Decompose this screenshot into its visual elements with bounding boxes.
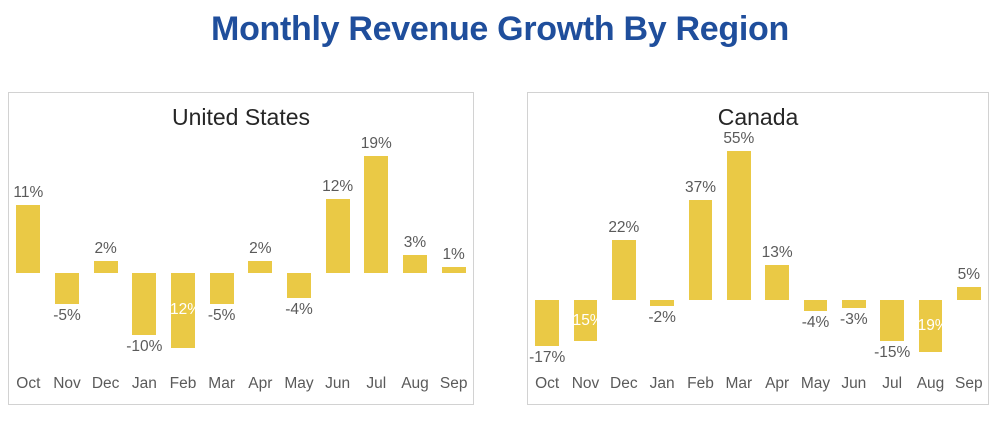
x-tick-us-mar: Mar xyxy=(202,374,241,394)
page-title: Monthly Revenue Growth By Region xyxy=(0,8,1000,50)
chart-title-canada: Canada xyxy=(528,103,988,131)
x-tick-ca-aug: Aug xyxy=(911,374,949,394)
x-axis-united-states: OctNovDecJanFebMarAprMayJunJulAugSep xyxy=(9,374,473,398)
x-tick-us-jun: Jun xyxy=(318,374,357,394)
bar-label-ca-dec: 22% xyxy=(601,219,647,237)
x-tick-ca-dec: Dec xyxy=(605,374,643,394)
bar-us-oct[interactable] xyxy=(16,205,40,273)
bar-label-ca-jul: -15% xyxy=(869,344,915,362)
x-tick-ca-apr: Apr xyxy=(758,374,796,394)
x-tick-ca-jan: Jan xyxy=(643,374,681,394)
x-axis-canada: OctNovDecJanFebMarAprMayJunJulAugSep xyxy=(528,374,988,398)
bar-ca-jan[interactable] xyxy=(650,300,674,305)
bar-ca-feb[interactable] xyxy=(689,200,713,301)
x-tick-ca-sep: Sep xyxy=(950,374,988,394)
bar-label-ca-sep: 5% xyxy=(946,266,992,284)
x-tick-us-apr: Apr xyxy=(241,374,280,394)
bar-label-us-sep: 1% xyxy=(430,246,476,264)
x-tick-ca-jun: Jun xyxy=(835,374,873,394)
bar-ca-oct[interactable] xyxy=(535,300,559,346)
bar-label-ca-jun: -3% xyxy=(831,311,877,329)
bar-ca-dec[interactable] xyxy=(612,240,636,300)
bar-label-us-jun: 12% xyxy=(314,178,360,196)
x-tick-us-dec: Dec xyxy=(86,374,125,394)
bar-label-us-jul: 19% xyxy=(353,135,399,153)
plot-area-canada: -17%-15%22%-2%37%55%13%-4%-3%-15%-19%5% xyxy=(528,137,988,360)
bar-ca-jun[interactable] xyxy=(842,300,866,308)
bar-label-us-jan: -10% xyxy=(121,338,167,356)
x-tick-us-jan: Jan xyxy=(125,374,164,394)
bar-label-ca-aug: -19% xyxy=(908,317,954,335)
bar-label-ca-nov: -15% xyxy=(563,312,609,330)
x-tick-us-feb: Feb xyxy=(164,374,203,394)
bar-us-jun[interactable] xyxy=(326,199,350,273)
bar-label-ca-feb: 37% xyxy=(678,179,724,197)
bar-ca-may[interactable] xyxy=(804,300,828,311)
x-tick-us-sep: Sep xyxy=(434,374,473,394)
chart-panel-canada: Canada -17%-15%22%-2%37%55%13%-4%-3%-15%… xyxy=(527,92,989,405)
bar-ca-apr[interactable] xyxy=(765,265,789,300)
chart-title-united-states: United States xyxy=(9,103,473,131)
x-tick-us-nov: Nov xyxy=(48,374,87,394)
bar-us-aug[interactable] xyxy=(403,255,427,274)
chart-panel-united-states: United States 11%-5%2%-10%-12%-5%2%-4%12… xyxy=(8,92,474,405)
bar-label-us-may: -4% xyxy=(276,301,322,319)
bar-label-ca-mar: 55% xyxy=(716,130,762,148)
bar-label-us-oct: 11% xyxy=(5,184,51,202)
bar-label-us-apr: 2% xyxy=(237,240,283,258)
bar-label-ca-oct: -17% xyxy=(524,349,570,367)
bar-label-ca-jan: -2% xyxy=(639,309,685,327)
x-tick-ca-mar: Mar xyxy=(720,374,758,394)
bar-us-dec[interactable] xyxy=(94,261,118,273)
bar-us-jul[interactable] xyxy=(364,156,388,274)
bar-ca-sep[interactable] xyxy=(957,287,981,301)
bar-label-us-nov: -5% xyxy=(44,307,90,325)
x-tick-us-oct: Oct xyxy=(9,374,48,394)
bar-label-ca-apr: 13% xyxy=(754,244,800,262)
x-tick-ca-jul: Jul xyxy=(873,374,911,394)
bar-us-apr[interactable] xyxy=(248,261,272,273)
bar-label-us-mar: -5% xyxy=(198,307,244,325)
plot-area-united-states: 11%-5%2%-10%-12%-5%2%-4%12%19%3%1% xyxy=(9,137,473,360)
bar-us-mar[interactable] xyxy=(210,273,234,304)
bar-label-us-dec: 2% xyxy=(82,240,128,258)
x-tick-ca-may: May xyxy=(796,374,834,394)
x-tick-ca-feb: Feb xyxy=(681,374,719,394)
bar-ca-mar[interactable] xyxy=(727,151,751,301)
x-tick-ca-nov: Nov xyxy=(566,374,604,394)
x-tick-us-aug: Aug xyxy=(396,374,435,394)
bar-us-may[interactable] xyxy=(287,273,311,298)
bar-us-sep[interactable] xyxy=(442,267,466,273)
bar-us-nov[interactable] xyxy=(55,273,79,304)
x-tick-ca-oct: Oct xyxy=(528,374,566,394)
x-tick-us-may: May xyxy=(280,374,319,394)
x-tick-us-jul: Jul xyxy=(357,374,396,394)
bar-ca-jul[interactable] xyxy=(880,300,904,341)
bar-us-jan[interactable] xyxy=(132,273,156,335)
